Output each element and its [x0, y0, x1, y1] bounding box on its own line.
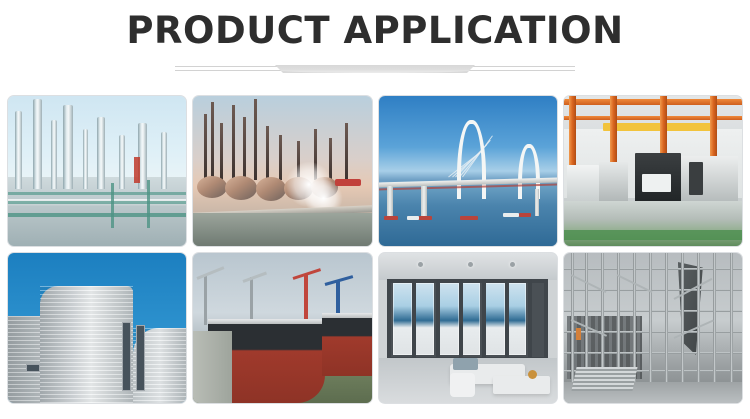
gallery-card-folding-doors[interactable]: [378, 252, 558, 404]
green-pipe-run: [8, 192, 186, 195]
boat: [503, 213, 519, 217]
dry-dock-quay: [193, 331, 232, 403]
refinery-stack: [279, 135, 282, 180]
downlight: [418, 262, 423, 267]
image-steel-scaffolding: [564, 253, 742, 403]
scaffold-standard: [697, 253, 700, 394]
distillation-column: [51, 120, 57, 189]
gallery-card-shipyard[interactable]: [192, 252, 372, 404]
gallery-card-metal-building[interactable]: [7, 252, 187, 404]
floor-green-stripe: [564, 230, 742, 240]
image-chemical-plant: [8, 96, 186, 246]
machine-column: [689, 162, 703, 195]
scaffold-standard: [681, 253, 684, 394]
cushion: [453, 358, 478, 370]
downlight: [468, 262, 473, 267]
refinery-stack: [211, 102, 214, 180]
image-cable-stayed-bridge: [379, 96, 557, 246]
gantry-crane-jib: [243, 272, 267, 283]
door-glass-panel: [439, 283, 459, 355]
safety-marker: [576, 328, 581, 340]
bridge-pier-base: [519, 213, 531, 217]
gallery-card-chemical-plant[interactable]: [7, 95, 187, 247]
window-strip: [136, 325, 145, 391]
storage-tank: [197, 176, 227, 199]
scaffold-standard: [730, 253, 733, 394]
bridge-pier: [387, 186, 393, 219]
scaffold-standard: [665, 253, 668, 394]
product-application-page: PRODUCT APPLICATION: [0, 0, 750, 419]
cnc-machine: [567, 165, 599, 204]
refinery-stack: [243, 117, 246, 180]
distillation-column: [63, 105, 73, 189]
image-oil-refinery: [193, 96, 371, 246]
bridge-pier: [535, 189, 539, 216]
boat: [407, 216, 419, 220]
title-divider: [175, 63, 575, 77]
door-mullion: [436, 279, 440, 362]
door-mullion: [482, 279, 486, 362]
scaffold-standard: [649, 253, 652, 394]
door-glass-panel: [507, 283, 527, 355]
refinery-stack: [204, 114, 207, 180]
louvre-vent: [26, 364, 40, 372]
ship-deck-line: [322, 313, 372, 318]
gallery-card-scaffolding[interactable]: [563, 252, 743, 404]
gantry-crane-mast-red: [304, 274, 308, 319]
storage-tank: [256, 177, 286, 201]
distillation-column: [33, 99, 42, 189]
green-pipe-riser: [111, 183, 114, 228]
storage-tank: [225, 176, 257, 200]
ottoman: [450, 373, 475, 397]
door-glass-panel: [485, 283, 505, 355]
building-main-mass: [40, 286, 133, 403]
door-mullion: [412, 279, 416, 362]
gallery-card-workshop[interactable]: [563, 95, 743, 247]
door-mullion: [528, 279, 532, 362]
divider-center-ornament: [275, 65, 475, 73]
bridge-pier-base: [460, 216, 478, 220]
gallery-card-bridge[interactable]: [378, 95, 558, 247]
overhead-crane-girder: [603, 123, 714, 131]
image-shipbuilding-yard: [193, 253, 371, 403]
gallery-card-oil-refinery[interactable]: [192, 95, 372, 247]
green-pipe-riser: [147, 180, 150, 228]
scaffold-standard: [713, 253, 716, 394]
plant-red-marker: [134, 157, 140, 183]
gantry-crane-mast: [204, 274, 207, 325]
door-glass-panel: [460, 283, 480, 355]
image-metal-clad-building: [8, 253, 186, 403]
cladding-ribs: [40, 286, 133, 403]
refinery-stack: [345, 123, 348, 180]
refinery-red-vehicle: [335, 179, 361, 186]
door-glass-panel: [393, 283, 413, 355]
refinery-stack: [232, 105, 235, 180]
cargo-ship-hull-secondary: [322, 313, 372, 376]
bridge-pier: [421, 186, 427, 219]
window-strip: [122, 322, 131, 391]
green-pipe-run: [8, 213, 186, 217]
distillation-column: [83, 129, 88, 189]
distillation-column: [119, 135, 125, 189]
page-header: PRODUCT APPLICATION: [0, 0, 750, 77]
ceiling: [379, 253, 557, 280]
refinery-foreground: [193, 213, 371, 246]
gantry-crane-jib: [196, 266, 224, 279]
application-image-gallery: [7, 95, 743, 404]
steel-pipe-stack: [572, 367, 638, 391]
refinery-stack: [254, 99, 257, 180]
image-machinery-workshop: [564, 96, 742, 246]
door-glass-panel: [414, 283, 434, 355]
door-mullion: [505, 279, 509, 362]
distillation-column: [97, 117, 105, 189]
bridge-pier-base: [384, 216, 398, 220]
door-mullion: [459, 279, 463, 362]
refinery-stack: [266, 126, 269, 180]
bridge-pier-base: [418, 216, 432, 220]
coffee-table: [493, 376, 550, 394]
ship-deck-line: [208, 319, 326, 324]
green-pipe-run: [8, 201, 186, 204]
distillation-column: [161, 132, 167, 189]
page-title: PRODUCT APPLICATION: [0, 9, 750, 53]
cnc-machine: [599, 162, 628, 204]
image-aluminium-folding-doors: [379, 253, 557, 403]
distillation-column: [15, 111, 22, 189]
machine-panel: [642, 174, 671, 192]
refinery-stack: [220, 123, 223, 180]
gantry-crane-mast: [250, 277, 253, 322]
